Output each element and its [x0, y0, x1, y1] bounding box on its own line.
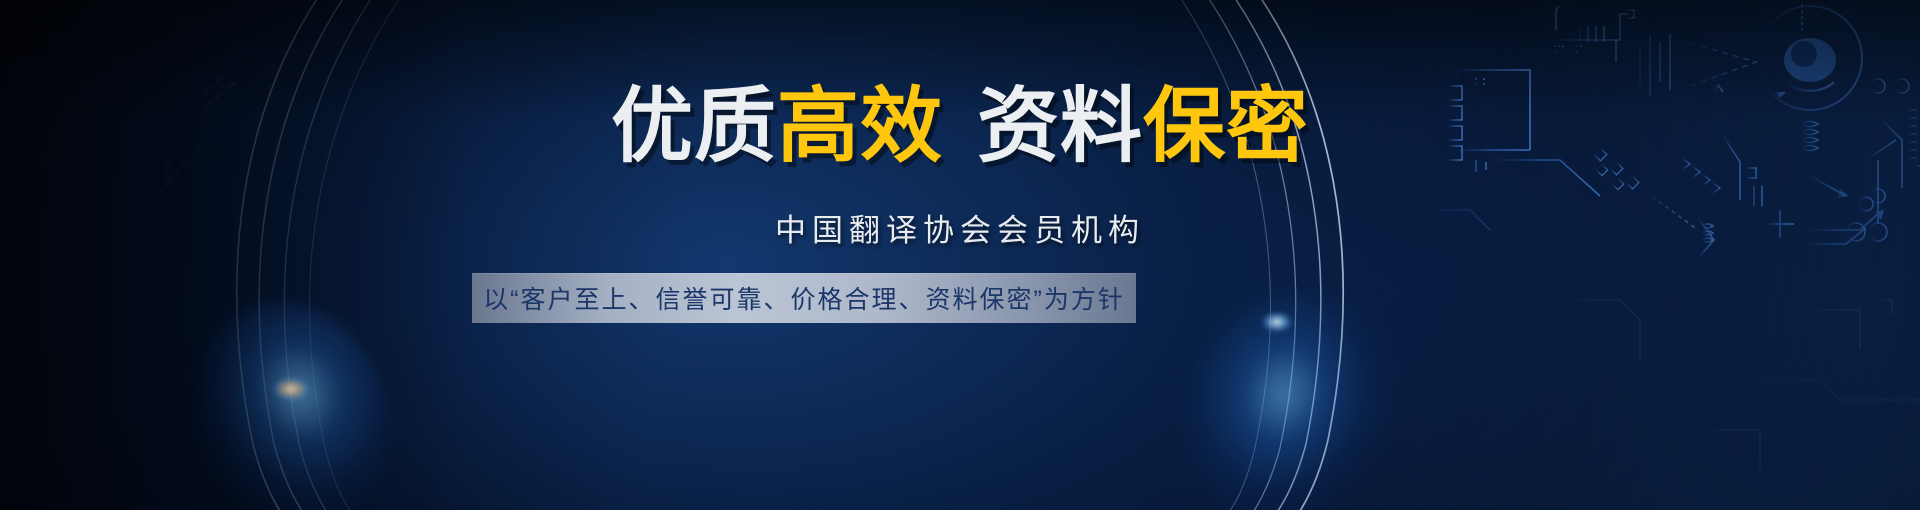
banner-subtitle: 中国翻译协会会员机构: [0, 205, 1920, 250]
tagline-text: 以“客户至上、信誉可靠、价格合理、资料保密”为方针: [483, 280, 1125, 316]
banner-content: 优质高效资料保密 中国翻译协会会员机构 以“客户至上、信誉可靠、价格合理、资料保…: [0, 0, 1920, 510]
tagline-bar: 以“客户至上、信誉可靠、价格合理、资料保密”为方针: [472, 273, 1136, 323]
headline-segment-1: 优质: [611, 81, 777, 172]
headline-segment-2: 高效: [777, 81, 943, 172]
banner-headline: 优质高效资料保密: [0, 86, 1920, 168]
headline-segment-3: 资料: [977, 81, 1143, 172]
hero-banner: 优质高效资料保密 中国翻译协会会员机构 以“客户至上、信誉可靠、价格合理、资料保…: [0, 0, 1920, 510]
headline-segment-4: 保密: [1143, 81, 1309, 172]
